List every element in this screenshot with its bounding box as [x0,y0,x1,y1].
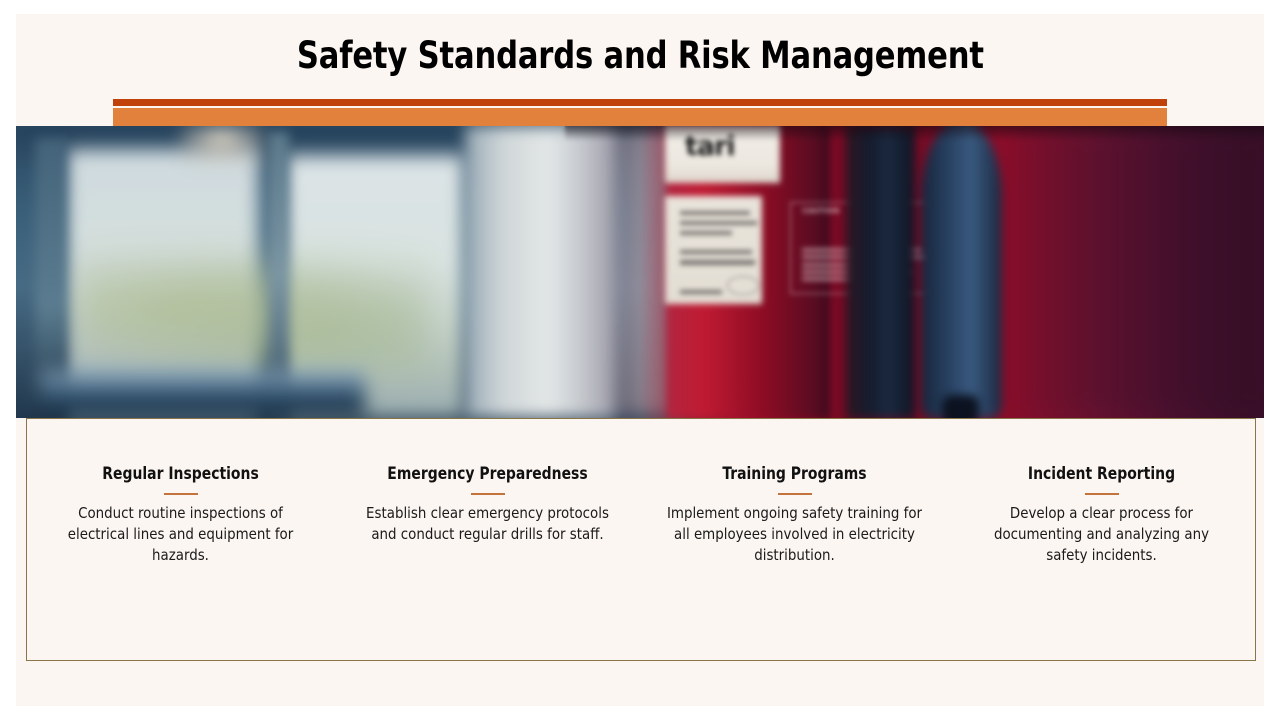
card-divider [164,493,198,495]
hero-image: tari CAUTION [16,126,1264,418]
card-body: Establish clear emergency protocols and … [357,503,617,545]
card-title: Training Programs [667,465,922,484]
photo-label-line [680,231,732,235]
card-title: Incident Reporting [974,465,1229,484]
accent-bar-group [113,99,1167,126]
card-divider [1085,493,1119,495]
card-divider [471,493,505,495]
photo-label-line [680,260,755,264]
photo-red-vignette [989,126,1264,418]
feature-card-training-programs: Training Programs Implement ongoing safe… [641,419,948,566]
accent-bar-dark [113,99,1167,106]
photo-cylinder-base [942,395,979,418]
photo-label-line [680,211,750,215]
photo-certification-seal [727,276,759,294]
feature-cards-container: Regular Inspections Conduct routine insp… [26,418,1256,661]
card-divider [778,493,812,495]
accent-bar-light [113,108,1167,126]
card-title: Emergency Preparedness [360,465,615,484]
feature-card-incident-reporting: Incident Reporting Develop a clear proce… [948,419,1255,566]
photo-label-line [680,250,752,254]
photo-ceiling-lamp [178,126,265,167]
title-block: Safety Standards and Risk Management [16,14,1264,99]
photo-dark-cylinder [846,126,915,418]
photo-label-line [680,290,722,294]
photo-caution-text: CAUTION [802,207,839,215]
page-title: Safety Standards and Risk Management [297,37,984,76]
card-body: Develop a clear process for documenting … [971,503,1231,566]
photo-desk [41,371,365,418]
feature-card-emergency-preparedness: Emergency Preparedness Establish clear e… [334,419,641,545]
photo-top-shadow [565,126,1264,141]
card-title: Regular Inspections [53,465,308,484]
card-body: Conduct routine inspections of electrica… [50,503,310,566]
photo-label-line [680,221,757,225]
feature-card-regular-inspections: Regular Inspections Conduct routine insp… [27,419,334,566]
card-body: Implement ongoing safety training for al… [664,503,924,566]
presentation-slide: Safety Standards and Risk Management tar… [16,14,1264,706]
photo-foliage [78,243,427,374]
